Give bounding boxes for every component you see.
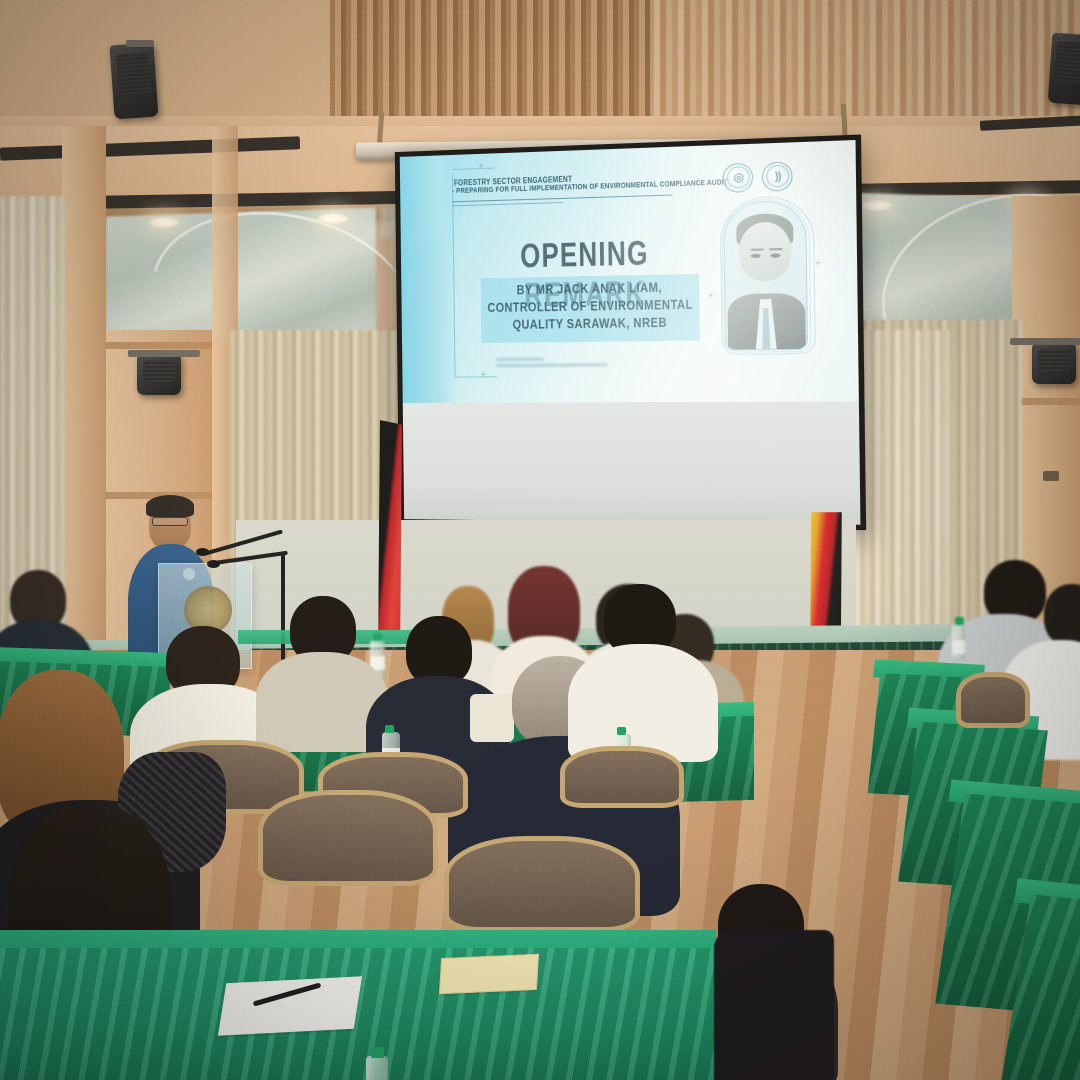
speaker-grill	[143, 360, 175, 382]
microphone-stand-pole	[281, 554, 285, 660]
projector-screen: + + FORESTRY SECTOR ENGAGEMENT - PREPARI…	[395, 134, 866, 530]
speaker-bracket-top-left	[126, 40, 154, 47]
bottle-cap	[955, 617, 964, 625]
ceiling-left-plane	[0, 0, 330, 118]
attendee-body	[568, 644, 718, 762]
flag-left	[378, 420, 402, 650]
wall-speaker-right-mid	[1032, 344, 1076, 384]
projector-screen-surface: + + FORESTRY SECTOR ENGAGEMENT - PREPARI…	[400, 140, 861, 525]
ceiling-slat-panel-shadowed	[330, 0, 650, 122]
column-band-left-1	[106, 342, 212, 349]
water-bottle-2	[952, 624, 965, 660]
speaker-bracket-left-mid	[128, 350, 200, 357]
screen-blank-lower-area	[403, 402, 861, 525]
bottle-cap	[371, 1047, 384, 1058]
speaker-hair	[146, 495, 194, 517]
speaker-glasses	[152, 517, 188, 526]
conference-hall-photo: + + FORESTRY SECTOR ENGAGEMENT - PREPARI…	[0, 0, 1080, 1080]
microphone-head-1	[196, 548, 209, 556]
bottle-cap	[617, 727, 626, 735]
paper-sheet	[218, 976, 362, 1036]
chair-backrest	[560, 746, 684, 808]
column-band-right	[1012, 398, 1080, 405]
wall-speaker-top-right	[1048, 33, 1080, 105]
bottle-cap	[385, 725, 394, 733]
slide-glare	[400, 140, 859, 403]
ceiling-downlight-1	[149, 217, 179, 228]
microphone-head-2	[207, 560, 220, 568]
attendee-shirt-collar	[470, 694, 514, 742]
bottle-cap	[373, 633, 382, 641]
wall-socket-plate	[1043, 471, 1059, 481]
wall-speaker-top-left	[109, 43, 158, 120]
column-left-outer	[62, 126, 106, 686]
chair-backrest	[956, 672, 1030, 728]
ceiling-downlight-3	[862, 200, 892, 211]
backpack	[714, 930, 834, 1080]
speaker-grill	[1054, 42, 1080, 83]
bottle-label	[952, 640, 965, 654]
water-bottle-5	[366, 1056, 388, 1080]
speaker-grill	[116, 52, 150, 96]
presentation-slide: + + FORESTRY SECTOR ENGAGEMENT - PREPARI…	[400, 140, 859, 403]
ceiling-downlight-2	[318, 213, 348, 224]
speaker-bracket-right-mid	[1010, 338, 1080, 345]
wall-speaker-left-mid	[137, 355, 181, 395]
foreground-table-drape	[0, 948, 716, 1080]
chair-backrest	[444, 836, 640, 932]
notepad	[439, 954, 539, 994]
speaker-grill	[1038, 349, 1070, 371]
chair-backrest	[258, 790, 438, 886]
